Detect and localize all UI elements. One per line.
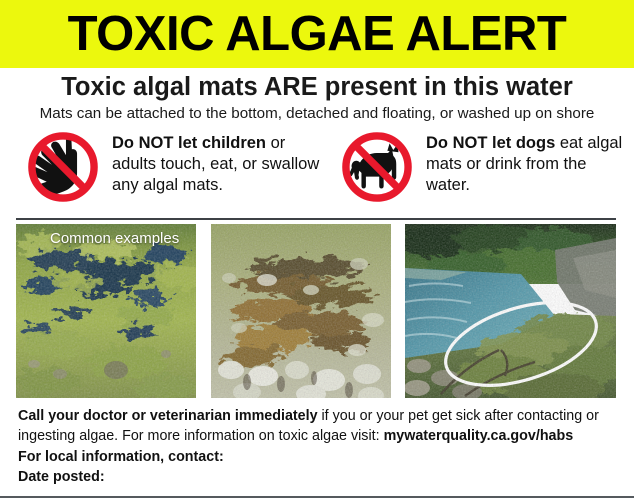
photo-river-shoreline-circled xyxy=(405,224,616,398)
footer-url[interactable]: mywaterquality.ca.gov/habs xyxy=(384,428,574,444)
heading-block: Toxic algal mats ARE present in this wat… xyxy=(0,68,634,122)
warning-children-text: Do NOT let children or adults touch, eat… xyxy=(112,133,330,196)
footer-date-posted-label: Date posted: xyxy=(18,469,105,485)
no-hand-touching-icon xyxy=(26,130,100,204)
alert-banner: TOXIC ALGAE ALERT xyxy=(0,0,634,68)
footer-local-info-label: For local information, contact: xyxy=(18,449,224,465)
no-dogs-icon xyxy=(340,130,414,204)
warning-dogs: Do NOT let dogs eat algal mats or drink … xyxy=(330,128,634,214)
warnings-row: Do NOT let children or adults touch, eat… xyxy=(0,128,634,214)
footer-instructions: Call your doctor or veterinarian immedia… xyxy=(18,406,622,487)
toxic-algae-alert-poster: TOXIC ALGAE ALERT Toxic algal mats ARE p… xyxy=(0,0,634,498)
footer-local-info-line: For local information, contact: xyxy=(18,447,622,467)
photo-green-algae-mats: Common examples xyxy=(16,224,196,398)
warning-dogs-text: Do NOT let dogs eat algal mats or drink … xyxy=(426,133,634,196)
footer-contact-line: Call your doctor or veterinarian immedia… xyxy=(18,406,622,447)
warning-dogs-lead: Do NOT let dogs xyxy=(426,134,555,152)
example-photos: Common examples xyxy=(16,224,616,398)
footer-call-doctor-lead: Call your doctor or veterinarian immedia… xyxy=(18,408,318,424)
page-title: TOXIC ALGAE ALERT xyxy=(68,10,567,59)
primary-heading: Toxic algal mats ARE present in this wat… xyxy=(0,73,634,102)
footer-date-posted-line: Date posted: xyxy=(18,467,622,487)
warning-children: Do NOT let children or adults touch, eat… xyxy=(0,128,330,214)
warning-children-lead: Do NOT let children xyxy=(112,134,266,152)
photo-brown-algae-on-cobble xyxy=(211,224,391,398)
secondary-heading: Mats can be attached to the bottom, deta… xyxy=(0,105,634,122)
section-divider xyxy=(16,218,616,220)
